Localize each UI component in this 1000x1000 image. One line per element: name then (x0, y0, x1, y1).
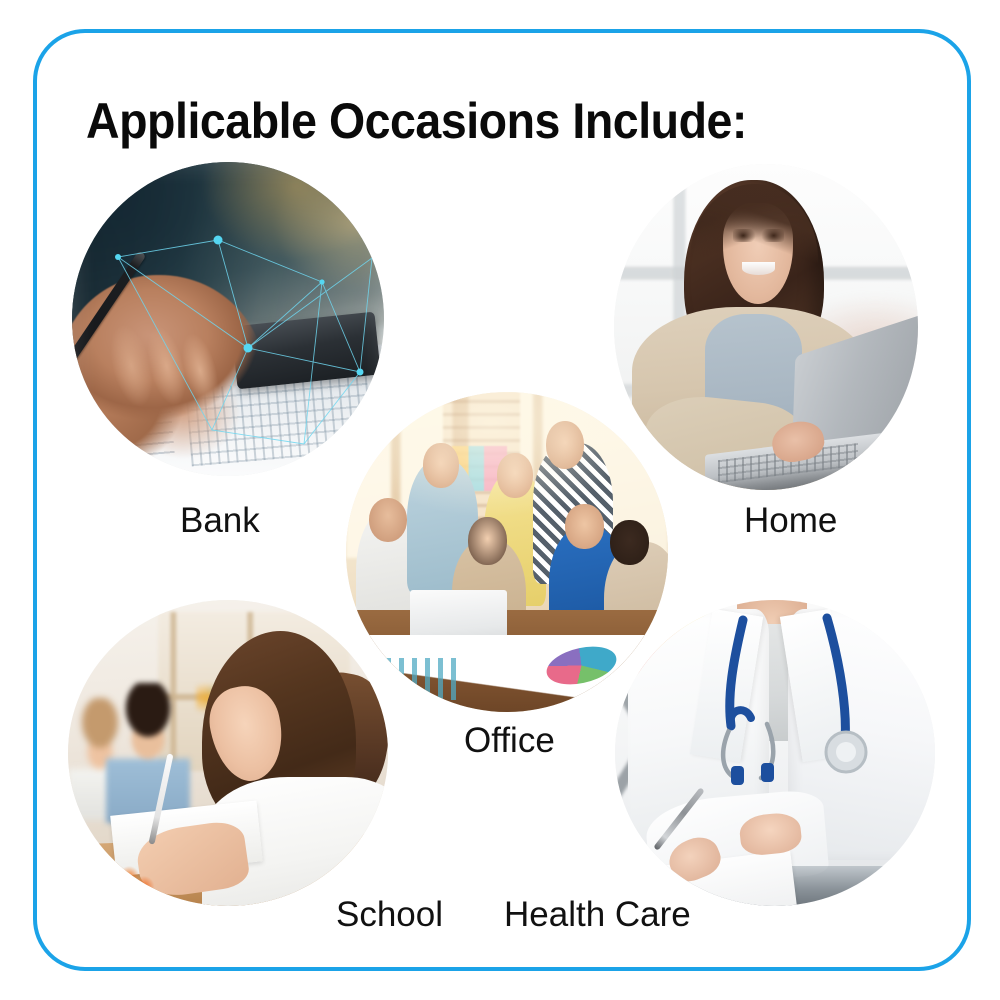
occasion-label-health-care: Health Care (504, 896, 691, 934)
home-woman-hair-front (690, 184, 818, 334)
bank-scene (72, 162, 384, 476)
school-scene (68, 600, 388, 906)
occasion-label-school: School (336, 896, 443, 934)
occasion-label-office: Office (464, 722, 555, 760)
occasion-image-school (68, 600, 388, 906)
page-title: Applicable Occasions Include: (86, 94, 747, 148)
school-clay-shapes (81, 851, 164, 891)
occasion-label-bank: Bank (180, 502, 260, 540)
poster-canvas: Applicable Occasions Include: (0, 0, 1000, 1000)
occasion-image-health-care (615, 600, 935, 906)
occasion-image-bank (72, 162, 384, 476)
school-child-background-1 (106, 683, 189, 824)
occasion-label-home: Home (744, 502, 837, 540)
health-care-scene (615, 600, 935, 906)
bank-vignette (72, 162, 384, 476)
